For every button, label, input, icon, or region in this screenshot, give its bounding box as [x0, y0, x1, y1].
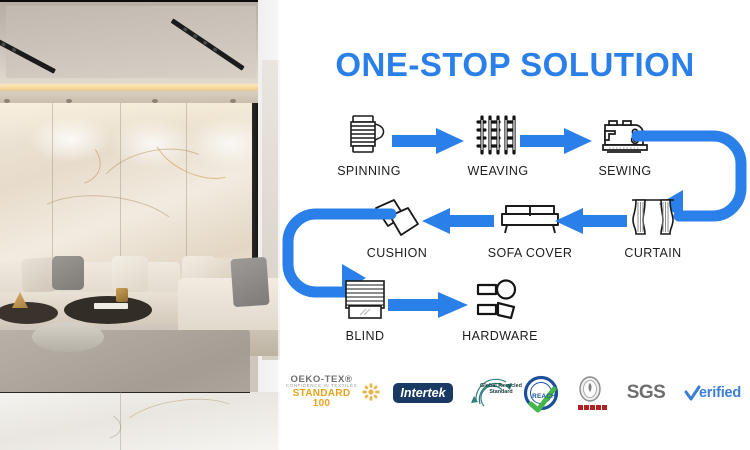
reach-label: REACH [532, 393, 556, 400]
downlight [230, 99, 236, 103]
curtain-finial-icon [450, 275, 550, 325]
coffee-table [64, 296, 152, 324]
decor-object [116, 288, 128, 302]
certification-logos: OEKO-TEX® CONFIDENCE IN TEXTILES STANDAR… [280, 370, 750, 415]
cert-quality-seal [568, 370, 616, 415]
coffee-table-round [32, 322, 104, 352]
flow-label-blind: BLIND [320, 329, 410, 343]
flow-node-hardware: HARDWARE [450, 275, 550, 343]
intertek-label: Intertek [393, 383, 452, 403]
cove-light [0, 84, 280, 91]
downlight [152, 99, 158, 103]
living-room-photo [0, 0, 280, 450]
ceiling [0, 0, 280, 96]
flow-label-spinning: SPINNING [324, 164, 414, 178]
cert-sgs: SGS [610, 370, 682, 415]
banner-root: ONE-STOP SOLUTION SPINNING [0, 0, 750, 450]
quality-seal-icon [578, 376, 602, 404]
verified-label: erified [699, 385, 741, 401]
sgs-label: SGS [627, 382, 666, 404]
cert-reach: REACH [518, 370, 570, 415]
pillow [112, 256, 148, 292]
flow-label-sofa-cover: SOFA COVER [480, 246, 580, 260]
cert-oeko-tex: OEKO-TEX® CONFIDENCE IN TEXTILES STANDAR… [284, 370, 380, 415]
flow-label-hardware: HARDWARE [450, 329, 550, 343]
downlight [66, 99, 72, 103]
flow-node-curtain: CURTAIN [608, 192, 698, 260]
verified-check-icon [685, 386, 700, 402]
flow-label-curtain: CURTAIN [608, 246, 698, 260]
cert-verified: erified [678, 370, 748, 415]
books [94, 303, 128, 309]
curtain-icon [608, 192, 698, 242]
cert-intertek: Intertek [388, 370, 458, 415]
oeko-tex-tagline: CONFIDENCE IN TEXTILES [275, 385, 369, 390]
floor-joint [120, 392, 121, 450]
downlight [4, 99, 10, 103]
page-title: ONE-STOP SOLUTION [280, 48, 750, 81]
pillow [52, 256, 84, 290]
flow-label-weaving: WEAVING [453, 164, 543, 178]
floor-joint [0, 392, 250, 393]
oeko-tex-standard: STANDARD 100 [284, 389, 359, 410]
